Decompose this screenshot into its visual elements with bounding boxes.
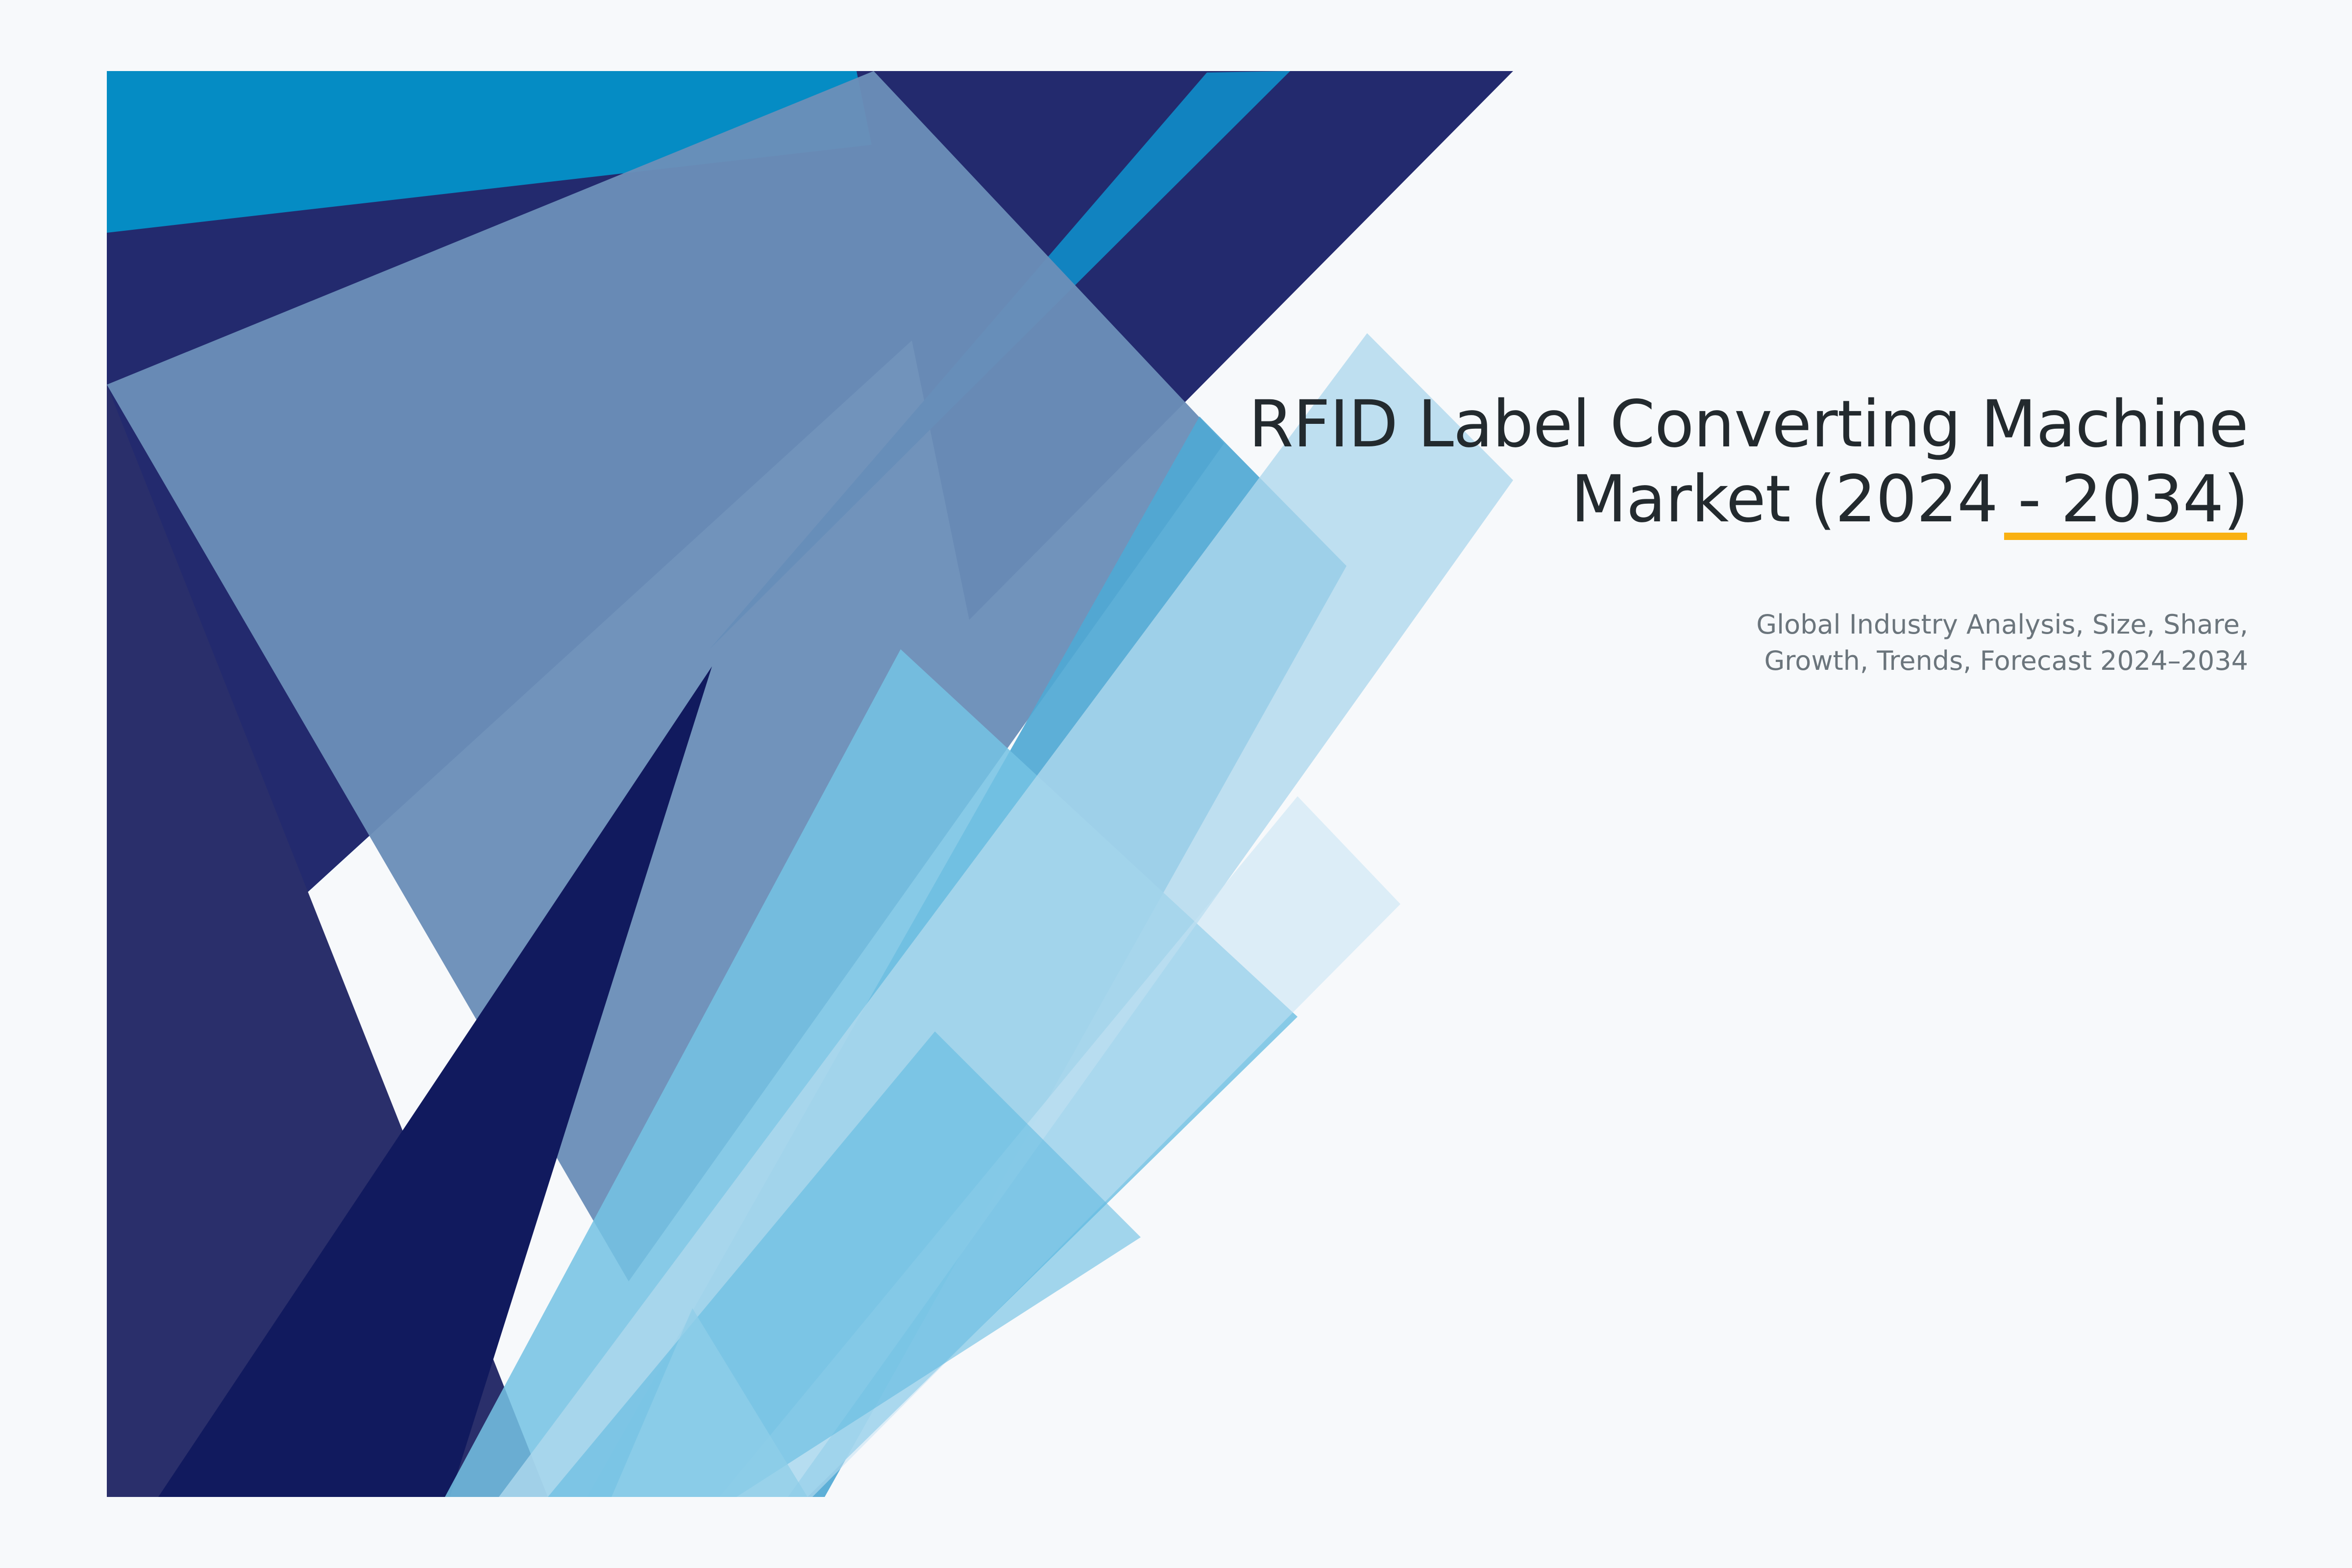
page-subtitle: Global Industry Analysis, Size, Share, G… — [1013, 537, 2248, 679]
report-cover-page: RFID Label Converting Machine Market (20… — [0, 0, 2352, 1568]
title-accent-underline — [2004, 533, 2247, 540]
cover-text-block: RFID Label Converting Machine Market (20… — [1013, 387, 2248, 679]
cover-artwork — [107, 71, 1513, 1497]
geometric-shapes-svg — [107, 71, 1513, 1497]
page-title: RFID Label Converting Machine Market (20… — [1013, 387, 2248, 537]
title-wrapper: RFID Label Converting Machine Market (20… — [1013, 387, 2248, 537]
